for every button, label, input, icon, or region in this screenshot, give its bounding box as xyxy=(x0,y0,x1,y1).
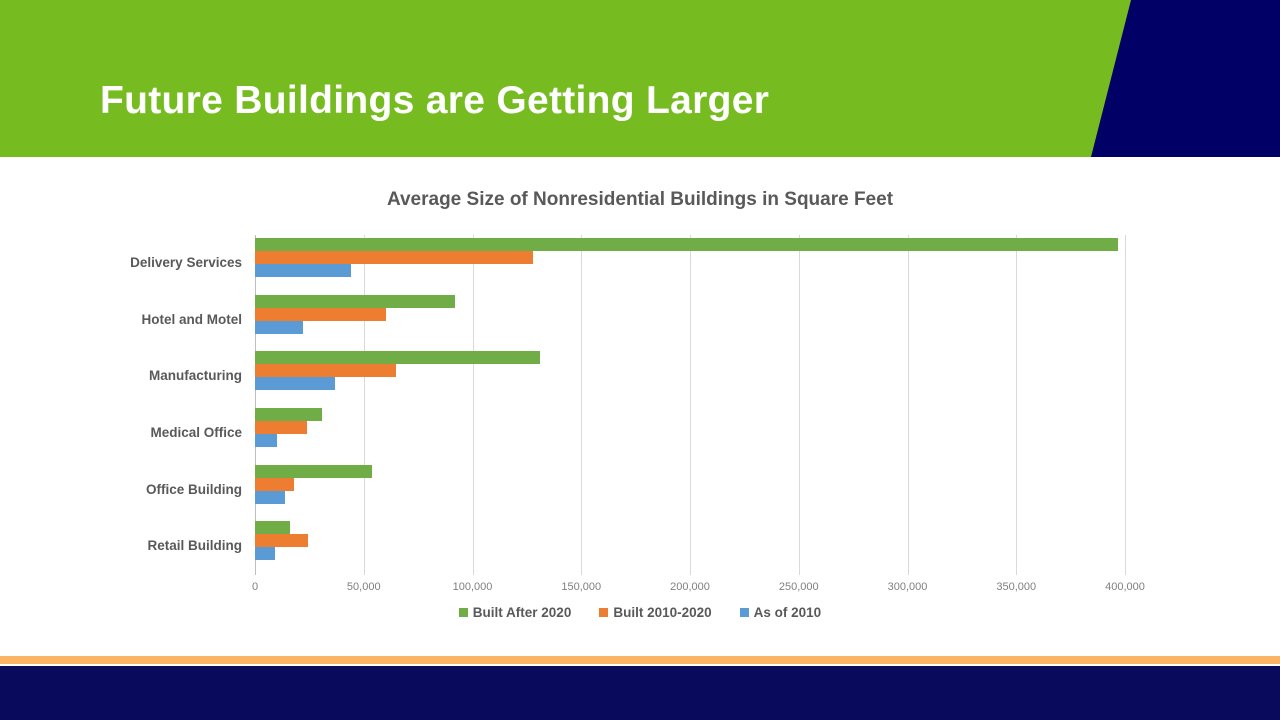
footer-band: SEMCOG SOUTHEAST MICHIGAN COUNCIL OF GOV… xyxy=(0,666,1280,720)
chart-bar-group xyxy=(255,462,1125,519)
chart-bar-group xyxy=(255,518,1125,575)
chart-bar xyxy=(255,308,386,321)
chart-bar xyxy=(255,421,307,434)
chart-bar xyxy=(255,351,540,364)
chart-plot-area xyxy=(255,235,1125,575)
chart-bar xyxy=(255,295,455,308)
chart-x-tick-label: 300,000 xyxy=(888,581,928,593)
chart-category-label: Manufacturing xyxy=(149,368,242,384)
chart-plot-wrapper: Delivery ServicesHotel and MotelManufact… xyxy=(0,157,1280,647)
chart-bar xyxy=(255,434,277,447)
chart-bar xyxy=(255,478,294,491)
chart-bar xyxy=(255,547,275,560)
chart-bar xyxy=(255,377,335,390)
slide: Future Buildings are Getting Larger Aver… xyxy=(0,0,1280,720)
chart-x-tick-label: 250,000 xyxy=(779,581,819,593)
chart-bar xyxy=(255,364,396,377)
chart-category-label: Office Building xyxy=(146,482,242,498)
legend-label: As of 2010 xyxy=(754,605,822,620)
header-banner: Future Buildings are Getting Larger xyxy=(0,0,1280,157)
chart-bar-group xyxy=(255,348,1125,405)
legend-swatch-icon xyxy=(599,608,608,617)
chart-x-tick-label: 100,000 xyxy=(453,581,493,593)
chart-x-tick-label: 400,000 xyxy=(1105,581,1145,593)
chart-bar xyxy=(255,465,372,478)
chart-bar xyxy=(255,321,303,334)
page-title: Future Buildings are Getting Larger xyxy=(100,76,769,126)
legend-item[interactable]: Built 2010-2020 xyxy=(599,605,711,620)
chart-region: Average Size of Nonresidential Buildings… xyxy=(0,157,1280,647)
legend-label: Built After 2020 xyxy=(473,605,572,620)
chart-x-tick-label: 50,000 xyxy=(347,581,381,593)
chart-category-label: Medical Office xyxy=(150,425,242,441)
chart-x-tick-label: 200,000 xyxy=(670,581,710,593)
chart-x-tick-label: 150,000 xyxy=(561,581,601,593)
legend-item[interactable]: Built After 2020 xyxy=(459,605,572,620)
chart-bar xyxy=(255,238,1118,251)
chart-bar xyxy=(255,408,322,421)
legend-swatch-icon xyxy=(459,608,468,617)
chart-category-label: Retail Building xyxy=(148,538,243,554)
chart-bar xyxy=(255,534,308,547)
footer-accent-stripe xyxy=(0,656,1280,664)
legend-label: Built 2010-2020 xyxy=(613,605,711,620)
chart-bar-group xyxy=(255,405,1125,462)
chart-category-label: Delivery Services xyxy=(130,255,242,271)
chart-bar-group xyxy=(255,292,1125,349)
chart-legend: Built After 2020Built 2010-2020As of 201… xyxy=(0,605,1280,620)
chart-bar xyxy=(255,521,290,534)
chart-category-label: Hotel and Motel xyxy=(142,312,243,328)
legend-swatch-icon xyxy=(740,608,749,617)
chart-x-tick-label: 350,000 xyxy=(996,581,1036,593)
chart-bar xyxy=(255,264,351,277)
chart-bar xyxy=(255,491,285,504)
gridline xyxy=(1125,235,1126,575)
legend-item[interactable]: As of 2010 xyxy=(740,605,822,620)
chart-bar xyxy=(255,251,533,264)
chart-bar-group xyxy=(255,235,1125,292)
chart-x-tick-label: 0 xyxy=(252,581,258,593)
